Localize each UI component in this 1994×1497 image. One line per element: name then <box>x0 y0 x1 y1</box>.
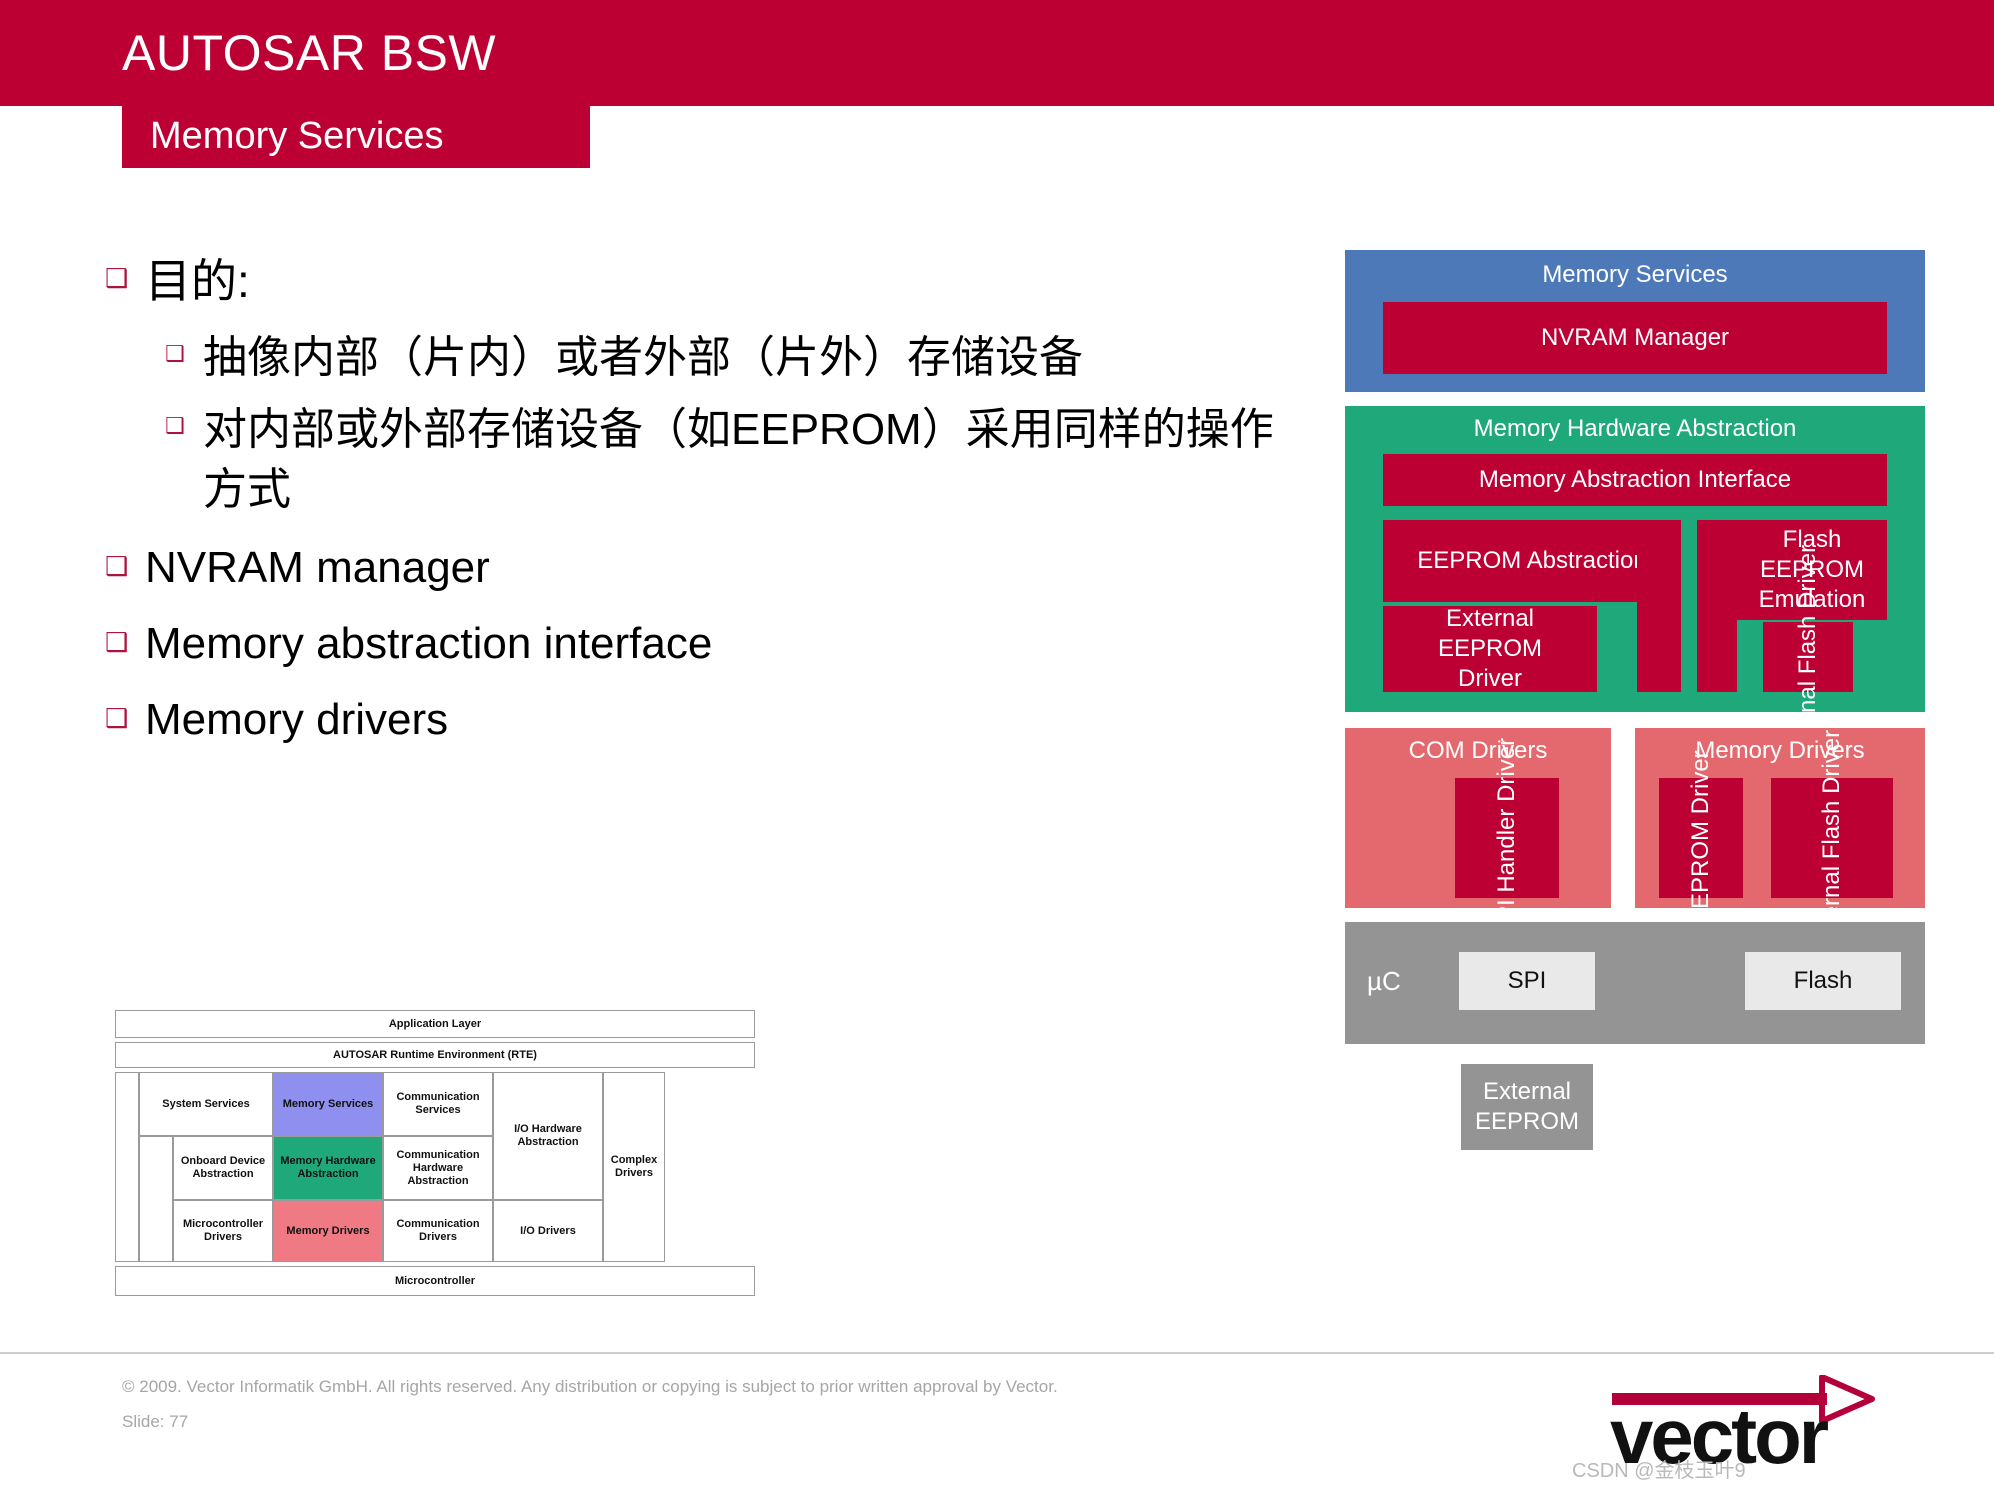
bullet-marker-icon: ❑ <box>165 328 203 366</box>
arch-com-drivers-layer: COM Drivers SPI Handler Driver <box>1345 728 1611 908</box>
csdn-watermark: CSDN @金枝玉叶9 <box>1572 1454 1746 1483</box>
layer-onboard-device-abstraction: Onboard Device Abstraction <box>173 1136 273 1200</box>
layer-rte: AUTOSAR Runtime Environment (RTE) <box>115 1042 755 1068</box>
bullet-text: 抽像内部（片内）或者外部（片外）存储设备 <box>203 328 1285 388</box>
layer-left-spacer <box>115 1072 139 1262</box>
arch-memory-abstraction-interface: Memory Abstraction Interface <box>1383 454 1887 506</box>
arch-internal-flash-driver: Internal Flash Driver <box>1771 778 1893 898</box>
arch-uc-label: µC <box>1367 966 1401 997</box>
layer-memory-services: Memory Services <box>273 1072 383 1136</box>
layer-memory-drivers: Memory Drivers <box>273 1200 383 1262</box>
layer-system-services: System Services <box>139 1072 273 1136</box>
arch-ee-hw-line1: External <box>1483 1077 1571 1107</box>
autosar-layer-diagram: Application Layer AUTOSAR Runtime Enviro… <box>115 1010 755 1300</box>
arch-eed-line1: External <box>1446 604 1534 634</box>
layer-microcontroller-drivers: Microcontroller Drivers <box>173 1200 273 1262</box>
arch-memory-abstraction-interface-label: Memory Abstraction Interface <box>1383 454 1887 506</box>
bullet-text: Memory abstraction interface <box>145 614 1285 674</box>
layer-memory-hardware-abstraction: Memory Hardware Abstraction <box>273 1136 383 1200</box>
bullet-text: 对内部或外部存储设备（如EEPROM）采用同样的操作方式 <box>203 400 1285 520</box>
arch-microcontroller-band: µC SPI Flash <box>1345 922 1925 1044</box>
arch-eeprom-driver: EEPROM Driver <box>1659 778 1743 898</box>
arch-spi-handler-driver: SPI Handler Driver <box>1455 778 1559 898</box>
arch-memory-drivers-layer: Memory Drivers EEPROM Driver Internal Fl… <box>1635 728 1925 908</box>
arch-eeprom-driver-label: EEPROM Driver <box>1659 778 1743 898</box>
slide-number: Slide: 77 <box>122 1412 188 1432</box>
footer-divider <box>0 1352 1994 1354</box>
arch-flash-hw-label: Flash <box>1745 952 1901 1010</box>
layer-complex-drivers: Complex Drivers <box>603 1072 665 1262</box>
layer-io-hardware-abstraction: I/O Hardware Abstraction <box>493 1072 603 1200</box>
bullet-item-memory-drivers: ❑ Memory drivers <box>105 690 1285 750</box>
layer-io-drivers: I/O Drivers <box>493 1200 603 1262</box>
arch-external-flash-driver-label: External Flash Driver <box>1763 622 1853 692</box>
arch-ee-hw-line2: EEPROM <box>1475 1107 1579 1137</box>
bullet-item-nvram-manager: ❑ NVRAM manager <box>105 538 1285 598</box>
bullet-list: ❑ 目的: ❑ 抽像内部（片内）或者外部（片外）存储设备 ❑ 对内部或外部存储设… <box>105 250 1285 766</box>
bullet-item-uniform-access: ❑ 对内部或外部存储设备（如EEPROM）采用同样的操作方式 <box>165 400 1285 520</box>
arch-nvram-manager: NVRAM Manager <box>1383 302 1887 374</box>
header-band: AUTOSAR BSW <box>0 0 1994 106</box>
layer-communication-services: Communication Services <box>383 1072 493 1136</box>
layer-communication-hardware-abstraction: Communication Hardware Abstraction <box>383 1136 493 1200</box>
bullet-marker-icon: ❑ <box>105 250 145 292</box>
arch-external-eeprom-driver-label: External EEPROM Driver <box>1383 606 1597 692</box>
arch-external-flash-driver: External Flash Driver <box>1763 622 1853 692</box>
layer-microcontroller: Microcontroller <box>115 1266 755 1296</box>
layer-inner-spacer <box>139 1136 173 1262</box>
arch-eed-line2: EEPROM <box>1438 634 1542 664</box>
bullet-item-memory-abstraction-interface: ❑ Memory abstraction interface <box>105 614 1285 674</box>
bullet-marker-icon: ❑ <box>105 614 145 656</box>
subtitle-bar: Memory Services <box>122 106 590 168</box>
arch-mha-label: Memory Hardware Abstraction <box>1345 414 1925 444</box>
bullet-marker-icon: ❑ <box>165 400 203 438</box>
arch-nvram-manager-label: NVRAM Manager <box>1383 302 1887 374</box>
arch-memory-services-layer: Memory Services NVRAM Manager <box>1345 250 1925 392</box>
bullet-text: NVRAM manager <box>145 538 1285 598</box>
bullet-text: Memory drivers <box>145 690 1285 750</box>
bullet-marker-icon: ❑ <box>105 538 145 580</box>
layer-communication-drivers: Communication Drivers <box>383 1200 493 1262</box>
arch-external-eeprom-driver: External EEPROM Driver <box>1383 606 1597 692</box>
copyright-text: © 2009. Vector Informatik GmbH. All righ… <box>122 1377 1058 1397</box>
arch-eed-line3: Driver <box>1458 664 1522 694</box>
arch-memory-hardware-abstraction-layer: Memory Hardware Abstraction Memory Abstr… <box>1345 406 1925 712</box>
layer-application: Application Layer <box>115 1010 755 1038</box>
arch-internal-flash-driver-label: Internal Flash Driver <box>1771 778 1893 898</box>
bullet-marker-icon: ❑ <box>105 690 145 732</box>
arch-spi-handler-driver-label: SPI Handler Driver <box>1455 778 1559 898</box>
arch-memory-services-label: Memory Services <box>1345 260 1925 290</box>
bullet-item-abstract-storage: ❑ 抽像内部（片内）或者外部（片外）存储设备 <box>165 328 1285 388</box>
subtitle-text: Memory Services <box>150 115 444 158</box>
page-title: AUTOSAR BSW <box>122 24 496 82</box>
arch-spi-hw: SPI <box>1459 952 1595 1010</box>
arch-external-eeprom-hw: External EEPROM <box>1461 1064 1593 1150</box>
bullet-item-purpose: ❑ 目的: <box>105 250 1285 312</box>
memory-stack-diagram: Memory Services NVRAM Manager Memory Har… <box>1345 250 1925 1310</box>
arch-memory-drivers-label: Memory Drivers <box>1635 736 1925 766</box>
arch-spi-hw-label: SPI <box>1459 952 1595 1010</box>
arch-com-drivers-label: COM Drivers <box>1345 736 1611 766</box>
arch-external-eeprom-hw-label: External EEPROM <box>1461 1064 1593 1150</box>
arch-flash-emulation-leg <box>1697 520 1737 692</box>
arch-flash-hw: Flash <box>1745 952 1901 1010</box>
bullet-text: 目的: <box>145 250 1285 312</box>
arch-eeprom-abstraction-leg <box>1637 520 1681 692</box>
